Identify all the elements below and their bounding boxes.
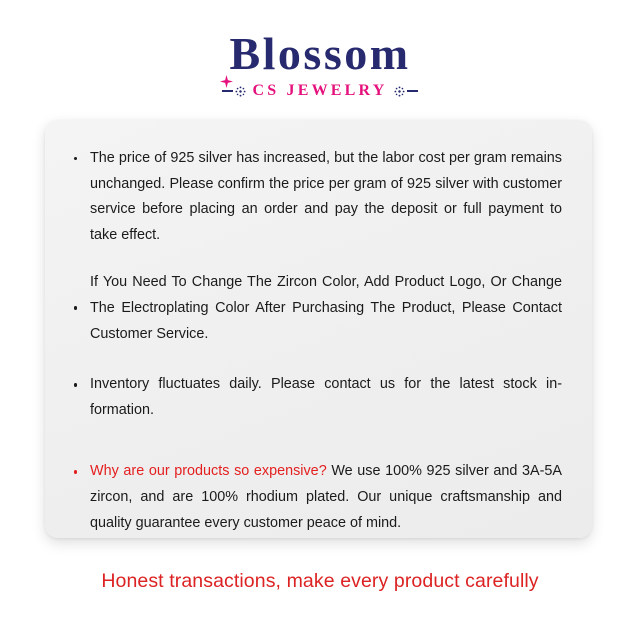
bullet-dot-icon — [74, 470, 77, 473]
notice-card: The price of 925 silver has increased, b… — [45, 120, 592, 538]
list-item: Why are our products so expensive? We us… — [73, 459, 562, 536]
promo-banner: Blossom — [0, 0, 640, 640]
notice-list: The price of 925 silver has increased, b… — [73, 146, 562, 536]
brand-subtitle-text: CS JEWELRY — [252, 82, 387, 100]
brand-subtitle-row: CS JEWELRY — [0, 82, 640, 100]
ornament-rule-left — [222, 90, 233, 92]
ornament-rule-right — [407, 90, 418, 92]
notice-highlight-question: Why are our products so expensive? — [90, 463, 327, 479]
list-item: Inventory fluctuates daily. Please conta… — [73, 372, 562, 423]
brand-name-text: Blossom — [229, 28, 410, 79]
footer-slogan: Honest transactions, make every product … — [0, 568, 640, 594]
bullet-dot-icon — [74, 383, 77, 386]
brand-header: Blossom — [0, 28, 640, 100]
list-item: The price of 925 silver has increased, b… — [73, 146, 562, 248]
brand-name: Blossom — [229, 28, 410, 80]
snowflake-ornament-icon-left — [222, 85, 247, 98]
notice-text-inventory: Inventory fluctuates daily. Please conta… — [90, 376, 562, 418]
bullet-dot-icon — [74, 157, 77, 160]
snowflake-ornament-icon-right — [393, 85, 418, 98]
bullet-dot-icon — [74, 306, 77, 309]
notice-text-customization: If You Need To Change The Zircon Color, … — [90, 274, 562, 341]
list-item: If You Need To Change The Zircon Color, … — [73, 270, 562, 347]
notice-text-price: The price of 925 silver has increased, b… — [90, 150, 562, 243]
